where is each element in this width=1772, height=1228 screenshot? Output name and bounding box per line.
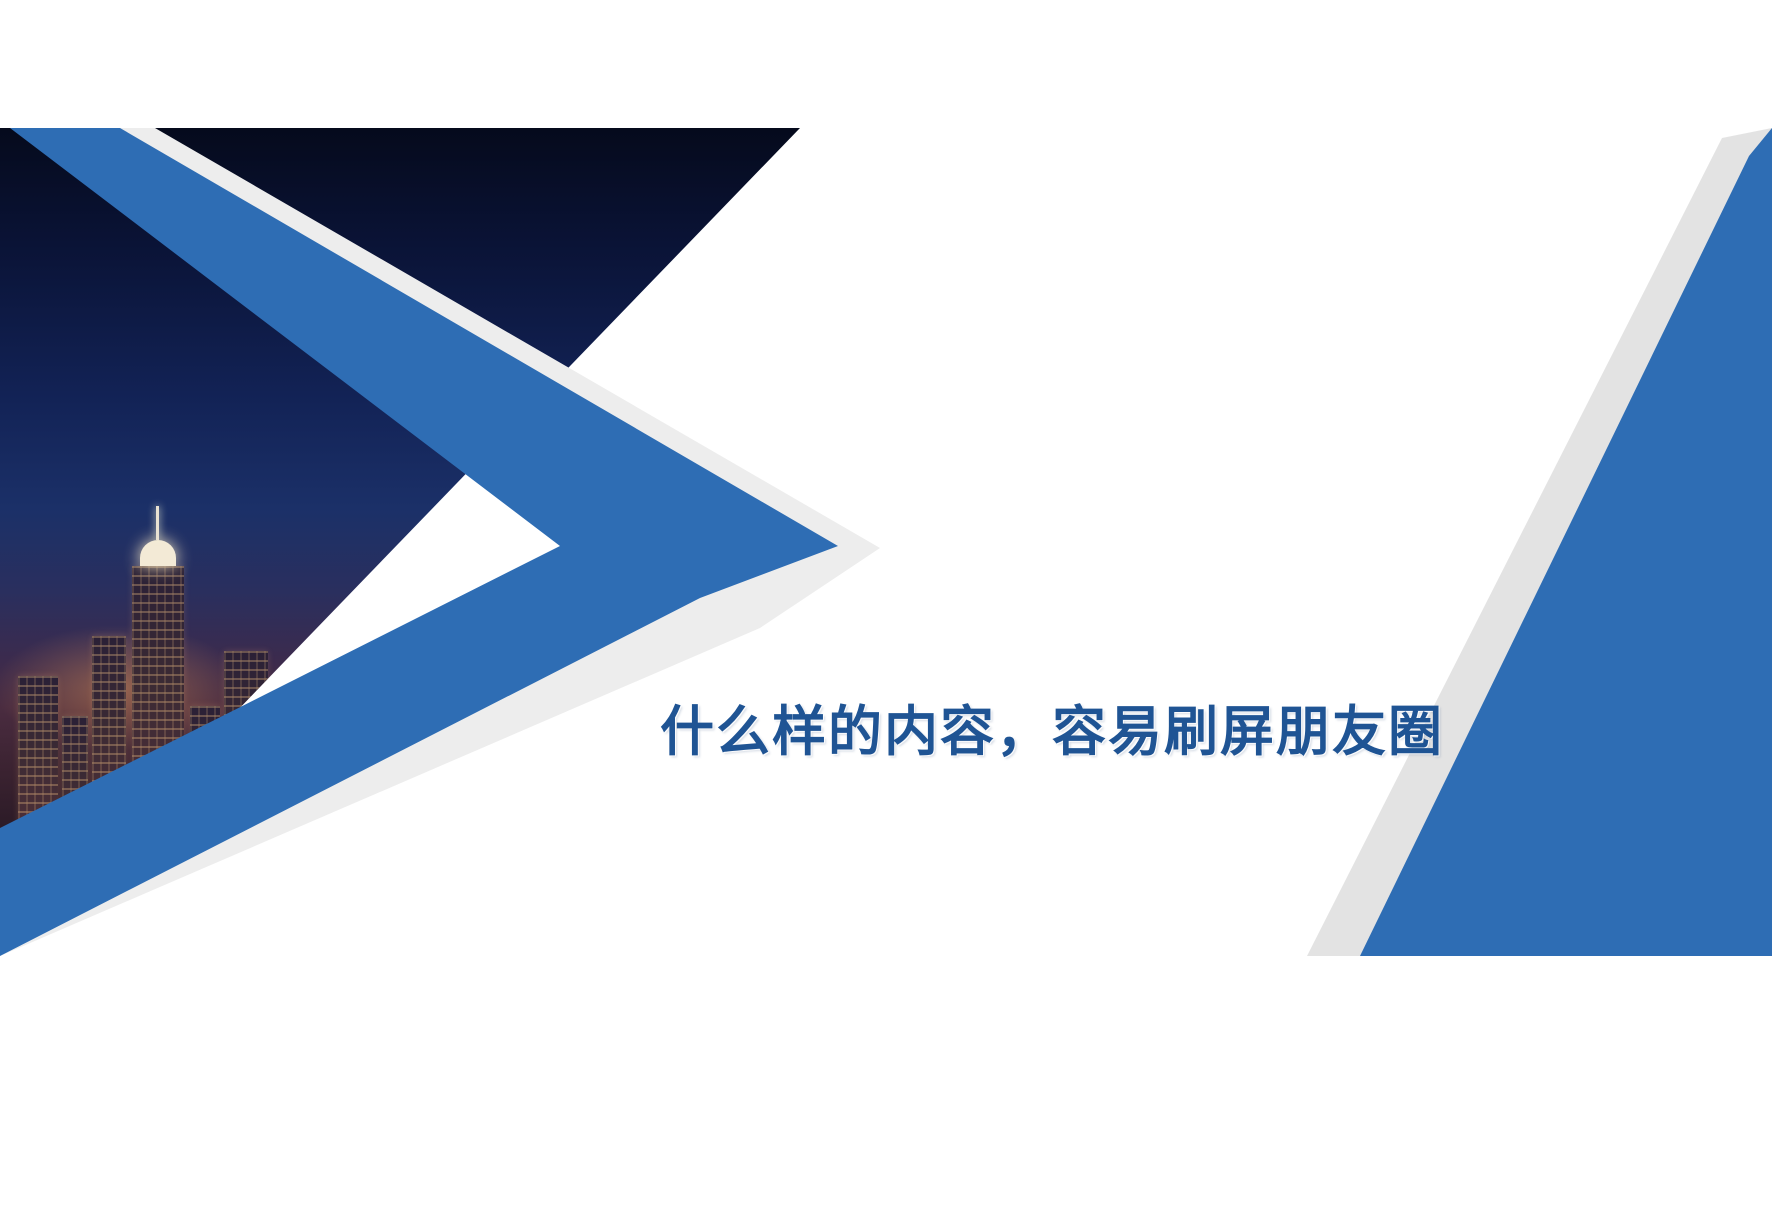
slide-title: 什么样的内容，容易刷屏朋友圈	[660, 703, 1460, 762]
slide-canvas: 什么样的内容，容易刷屏朋友圈 杨石头 品牌营销专家	[0, 128, 1772, 956]
foreground-water	[0, 896, 800, 956]
